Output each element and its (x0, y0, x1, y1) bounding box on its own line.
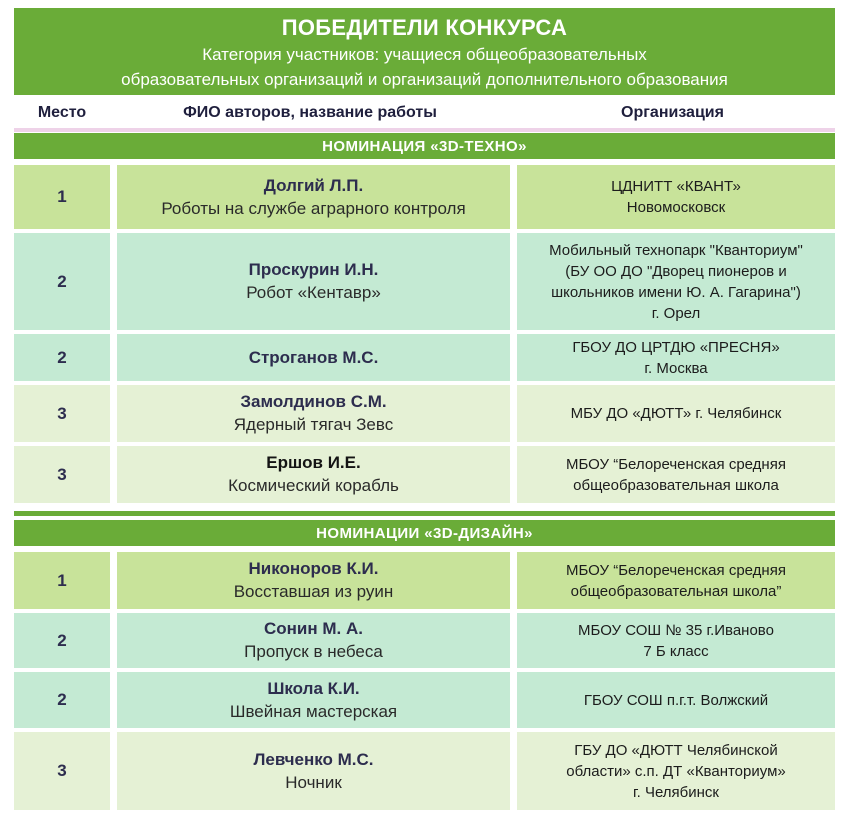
place-number: 2 (57, 690, 66, 710)
cell-place: 2 (14, 672, 110, 728)
column-header-place: Место (14, 104, 110, 122)
cell-organization: ГБУ ДО «ДЮТТ Челябинскойобласти» с.п. ДТ… (517, 732, 835, 810)
table-row: 1Долгий Л.П.Роботы на службе аграрного к… (14, 165, 835, 229)
place-number: 1 (57, 187, 66, 207)
column-header-organization: Организация (510, 104, 835, 122)
cell-organization: МБУ ДО «ДЮТТ» г. Челябинск (517, 385, 835, 442)
page-title: ПОБЕДИТЕЛИ КОНКУРСА (24, 14, 825, 42)
organization-line: ГБОУ СОШ п.г.т. Волжский (584, 690, 768, 711)
organization-line: ГБУ ДО «ДЮТТ Челябинской (566, 740, 786, 761)
author-name: Замолдинов С.М. (240, 390, 386, 413)
table-row: 2Школа К.И.Швейная мастерскаяГБОУ СОШ п.… (14, 672, 835, 728)
organization-line: г. Орел (549, 303, 803, 324)
work-title: Восставшая из руин (234, 580, 394, 604)
place-number: 3 (57, 404, 66, 424)
work-title: Ядерный тягач Зевс (234, 413, 393, 437)
table-row: 2Проскурин И.Н.Робот «Кентавр»Мобильный … (14, 233, 835, 330)
cell-work: Никоноров К.И.Восставшая из руин (117, 552, 510, 609)
table-row: 3Ершов И.Е.Космический корабльМБОУ “Бело… (14, 446, 835, 503)
organization-line: Мобильный технопарк "Кванториум" (549, 240, 803, 261)
work-title: Ночник (285, 771, 342, 795)
author-name: Левченко М.С. (253, 748, 373, 771)
banner-subtitle-line-1: Категория участников: учащиеся общеобраз… (24, 42, 825, 67)
cell-work: Долгий Л.П.Роботы на службе аграрного ко… (117, 165, 510, 229)
organization-text: ЦДНИТТ «КВАНТ»Новомосковск (611, 176, 741, 218)
place-number: 3 (57, 761, 66, 781)
cell-place: 2 (14, 334, 110, 381)
cell-organization: МБОУ “Белореченская средняяобщеобразоват… (517, 552, 835, 609)
table-row: 3Замолдинов С.М.Ядерный тягач ЗевсМБУ ДО… (14, 385, 835, 442)
place-number: 1 (57, 571, 66, 591)
organization-text: МБОУ “Белореченская средняяобщеобразоват… (566, 560, 786, 602)
cell-place: 3 (14, 385, 110, 442)
organization-line: г. Челябинск (566, 782, 786, 803)
cell-organization: ЦДНИТТ «КВАНТ»Новомосковск (517, 165, 835, 229)
cell-work: Сонин М. А.Пропуск в небеса (117, 613, 510, 668)
cell-place: 1 (14, 165, 110, 229)
organization-line: ЦДНИТТ «КВАНТ» (611, 176, 741, 197)
author-name: Никоноров К.И. (248, 557, 378, 580)
header-divider-rule (14, 128, 835, 132)
author-name: Ершов И.Е. (266, 451, 360, 474)
cell-place: 2 (14, 233, 110, 330)
organization-line: МБУ ДО «ДЮТТ» г. Челябинск (571, 403, 782, 424)
page-banner: ПОБЕДИТЕЛИ КОНКУРСА Категория участников… (14, 8, 835, 95)
banner-subtitle-line-2: образовательных организаций и организаци… (24, 67, 825, 92)
author-name: Сонин М. А. (264, 617, 363, 640)
organization-line: (БУ ОО ДО "Дворец пионеров и (549, 261, 803, 282)
organization-text: МБОУ “Белореченская средняяобщеобразоват… (566, 454, 786, 496)
table-column-headers: Место ФИО авторов, название работы Орган… (14, 98, 835, 127)
author-name: Строганов М.С. (249, 346, 379, 369)
organization-line: г. Москва (572, 358, 779, 379)
organization-line: области» с.п. ДТ «Кванториум» (566, 761, 786, 782)
section-divider-rule (14, 511, 835, 516)
table-row: 3Левченко М.С.НочникГБУ ДО «ДЮТТ Челябин… (14, 732, 835, 810)
section-header-2: НОМИНАЦИИ «3D-ДИЗАЙН» (14, 520, 835, 546)
cell-work: Замолдинов С.М.Ядерный тягач Зевс (117, 385, 510, 442)
organization-line: 7 Б класс (578, 641, 774, 662)
table-row: 2Строганов М.С.ГБОУ ДО ЦРТДЮ «ПРЕСНЯ»г. … (14, 334, 835, 381)
cell-organization: ГБОУ ДО ЦРТДЮ «ПРЕСНЯ»г. Москва (517, 334, 835, 381)
organization-line: ГБОУ ДО ЦРТДЮ «ПРЕСНЯ» (572, 337, 779, 358)
author-name: Школа К.И. (267, 677, 359, 700)
cell-place: 2 (14, 613, 110, 668)
section-header-1: НОМИНАЦИЯ «3D-ТЕХНО» (14, 133, 835, 159)
cell-organization: Мобильный технопарк "Кванториум"(БУ ОО Д… (517, 233, 835, 330)
cell-work: Проскурин И.Н.Робот «Кентавр» (117, 233, 510, 330)
work-title: Космический корабль (228, 474, 399, 498)
cell-organization: ГБОУ СОШ п.г.т. Волжский (517, 672, 835, 728)
cell-work: Строганов М.С. (117, 334, 510, 381)
organization-line: МБОУ “Белореченская средняя (566, 560, 786, 581)
cell-work: Ершов И.Е.Космический корабль (117, 446, 510, 503)
organization-text: Мобильный технопарк "Кванториум"(БУ ОО Д… (549, 240, 803, 324)
table-row: 2Сонин М. А.Пропуск в небесаМБОУ СОШ № 3… (14, 613, 835, 668)
organization-text: МБУ ДО «ДЮТТ» г. Челябинск (571, 403, 782, 424)
place-number: 2 (57, 272, 66, 292)
cell-work: Левченко М.С.Ночник (117, 732, 510, 810)
cell-work: Школа К.И.Швейная мастерская (117, 672, 510, 728)
place-number: 2 (57, 348, 66, 368)
table-row: 1Никоноров К.И.Восставшая из руинМБОУ “Б… (14, 552, 835, 609)
work-title: Швейная мастерская (230, 700, 397, 724)
organization-text: ГБУ ДО «ДЮТТ Челябинскойобласти» с.п. ДТ… (566, 740, 786, 803)
work-title: Робот «Кентавр» (246, 281, 381, 305)
place-number: 3 (57, 465, 66, 485)
organization-line: Новомосковск (611, 197, 741, 218)
cell-place: 3 (14, 446, 110, 503)
organization-line: МБОУ “Белореченская средняя (566, 454, 786, 475)
organization-text: МБОУ СОШ № 35 г.Иваново7 Б класс (578, 620, 774, 662)
cell-organization: МБОУ “Белореченская средняяобщеобразоват… (517, 446, 835, 503)
work-title: Роботы на службе аграрного контроля (161, 197, 465, 221)
work-title: Пропуск в небеса (244, 640, 383, 664)
organization-line: МБОУ СОШ № 35 г.Иваново (578, 620, 774, 641)
organization-text: ГБОУ ДО ЦРТДЮ «ПРЕСНЯ»г. Москва (572, 337, 779, 379)
column-header-work: ФИО авторов, название работы (110, 104, 510, 122)
cell-organization: МБОУ СОШ № 35 г.Иваново7 Б класс (517, 613, 835, 668)
cell-place: 3 (14, 732, 110, 810)
cell-place: 1 (14, 552, 110, 609)
organization-text: ГБОУ СОШ п.г.т. Волжский (584, 690, 768, 711)
author-name: Долгий Л.П. (264, 174, 363, 197)
results-table-page: ПОБЕДИТЕЛИ КОНКУРСА Категория участников… (0, 0, 849, 825)
organization-line: школьников имени Ю. А. Гагарина") (549, 282, 803, 303)
author-name: Проскурин И.Н. (249, 258, 379, 281)
organization-line: общеобразовательная школа” (566, 581, 786, 602)
organization-line: общеобразовательная школа (566, 475, 786, 496)
place-number: 2 (57, 631, 66, 651)
